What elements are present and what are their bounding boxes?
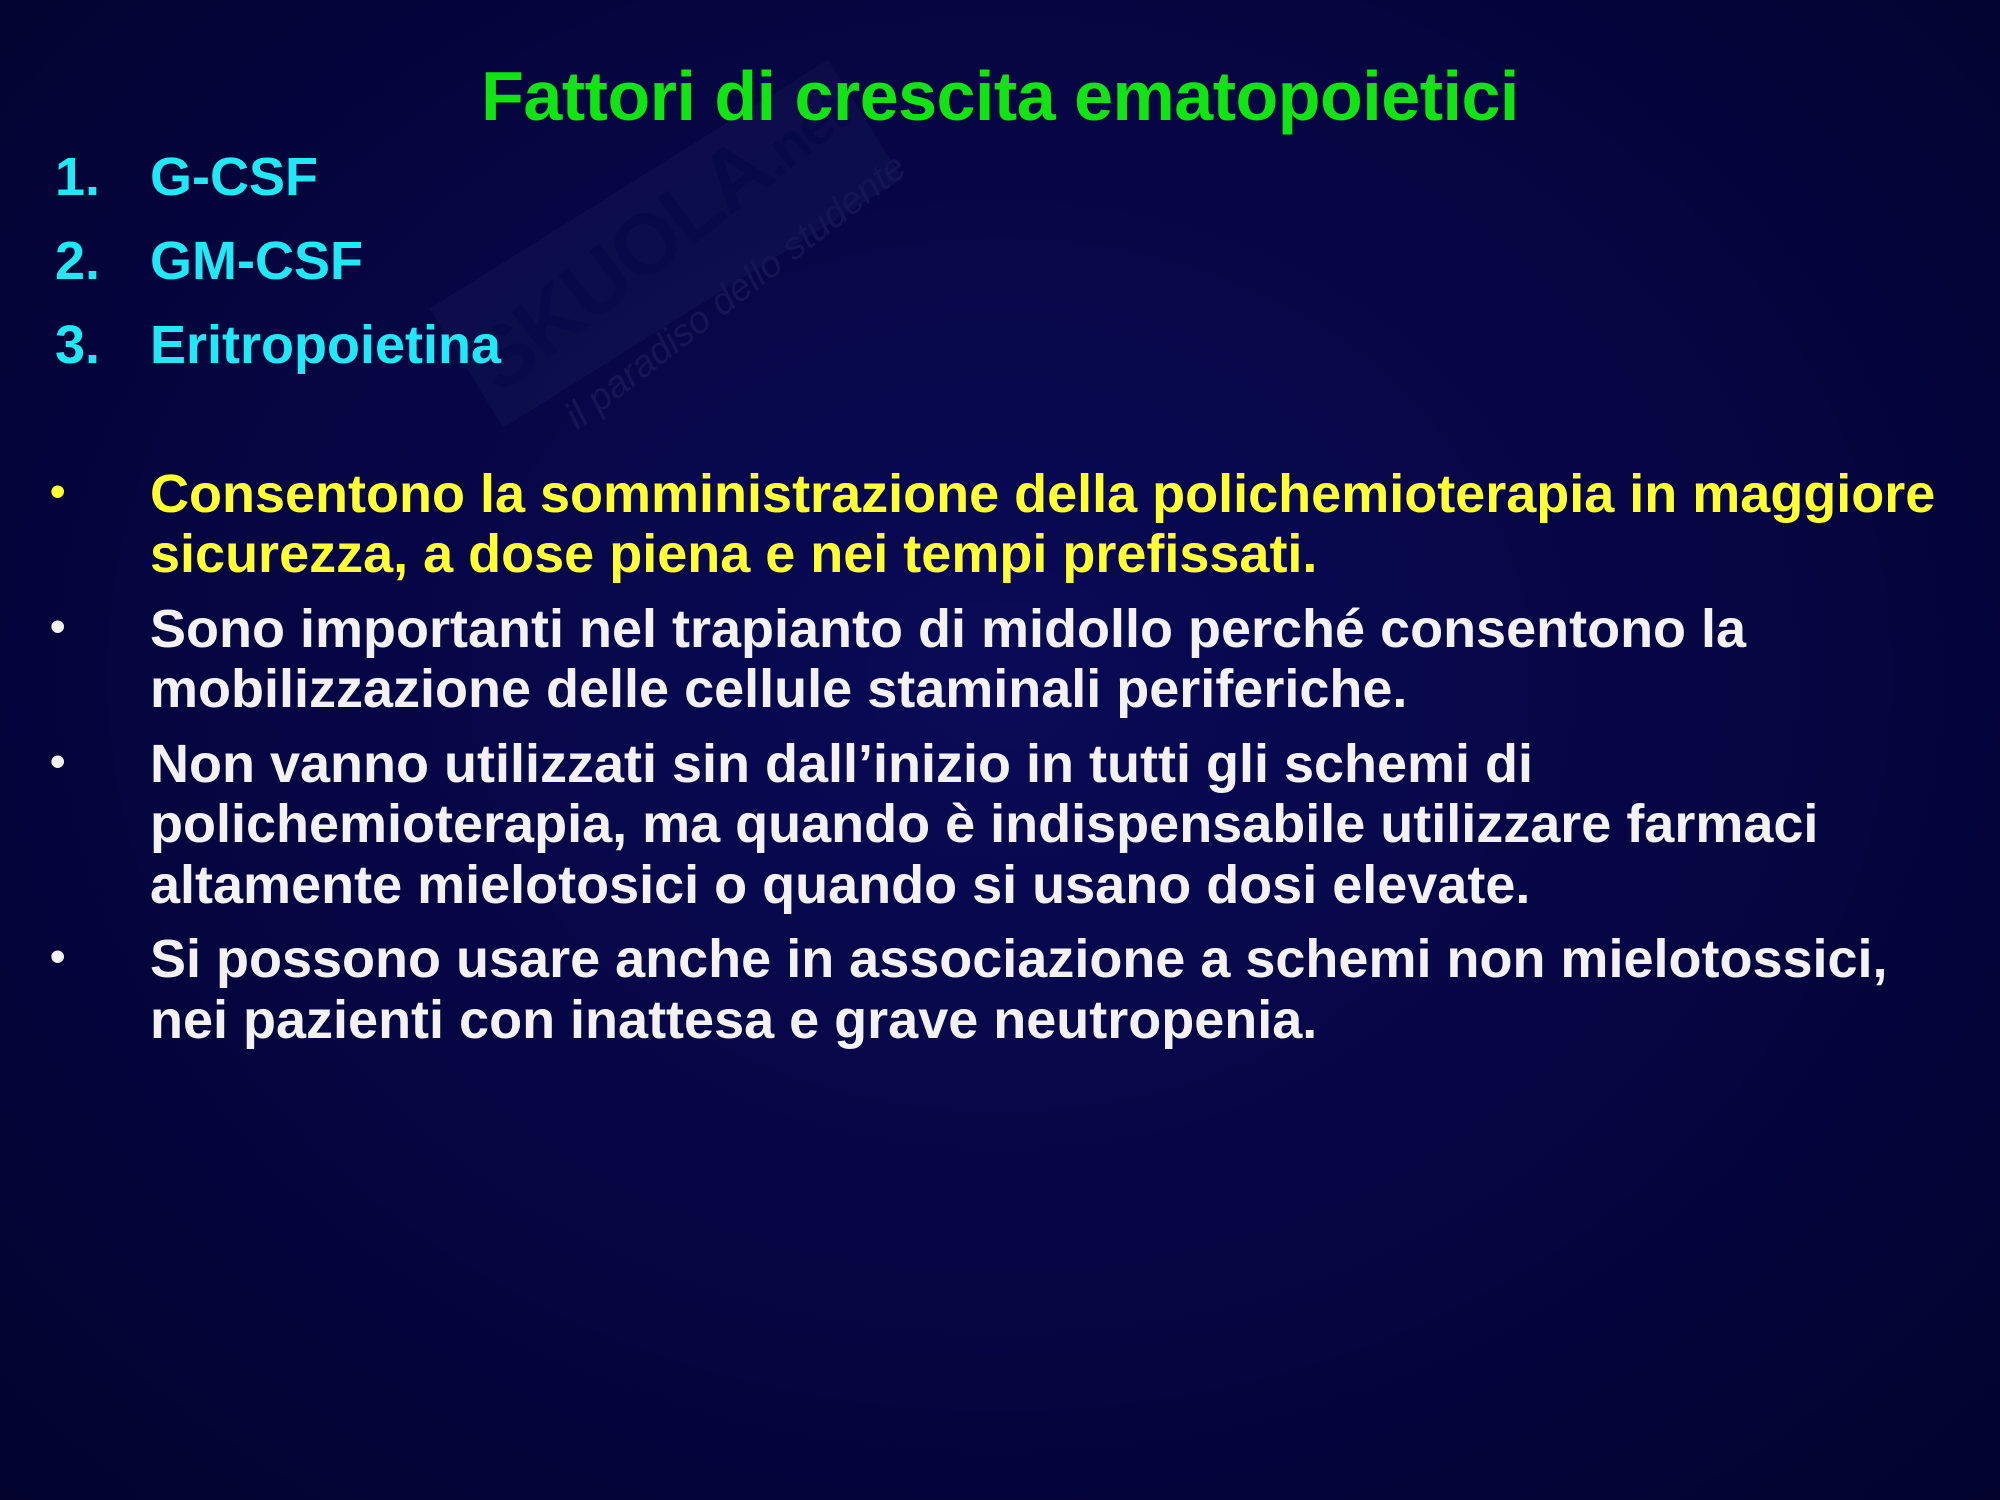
slide-title: Fattori di crescita ematopoietici <box>0 61 2000 131</box>
list-item-label: GM-CSF <box>150 234 2000 288</box>
bullet-marker-icon: • <box>0 734 150 789</box>
bullet-text: Consentono la somministrazione della pol… <box>150 464 2000 585</box>
bullet-item-4: • Si possono usare anche in associazione… <box>0 929 2000 1050</box>
slide-content: 1. G-CSF 2. GM-CSF 3. Eritropoietina • C… <box>0 150 2000 1064</box>
list-item-label: G-CSF <box>150 150 2000 204</box>
list-item-label: Eritropoietina <box>150 318 2000 372</box>
list-marker: 1. <box>0 150 150 204</box>
bullet-text: Sono importanti nel trapianto di midollo… <box>150 599 2000 720</box>
slide-canvas: SKUOLA.net il paradiso dello studente Fa… <box>0 0 2000 1500</box>
bullet-item-2: • Sono importanti nel trapianto di midol… <box>0 599 2000 720</box>
bullet-item-1: • Consentono la somministrazione della p… <box>0 464 2000 585</box>
numbered-list-item-1: 1. G-CSF <box>0 150 2000 204</box>
bullet-item-3: • Non vanno utilizzati sin dall’inizio i… <box>0 734 2000 915</box>
numbered-list-item-3: 3. Eritropoietina <box>0 318 2000 372</box>
bullet-marker-icon: • <box>0 929 150 984</box>
bullet-text: Si possono usare anche in associazione a… <box>150 929 2000 1050</box>
list-marker: 3. <box>0 318 150 372</box>
bullet-marker-icon: • <box>0 464 150 519</box>
numbered-list-item-2: 2. GM-CSF <box>0 234 2000 288</box>
bullet-marker-icon: • <box>0 599 150 654</box>
list-spacer <box>0 402 2000 464</box>
bullet-text: Non vanno utilizzati sin dall’inizio in … <box>150 734 2000 915</box>
list-marker: 2. <box>0 234 150 288</box>
